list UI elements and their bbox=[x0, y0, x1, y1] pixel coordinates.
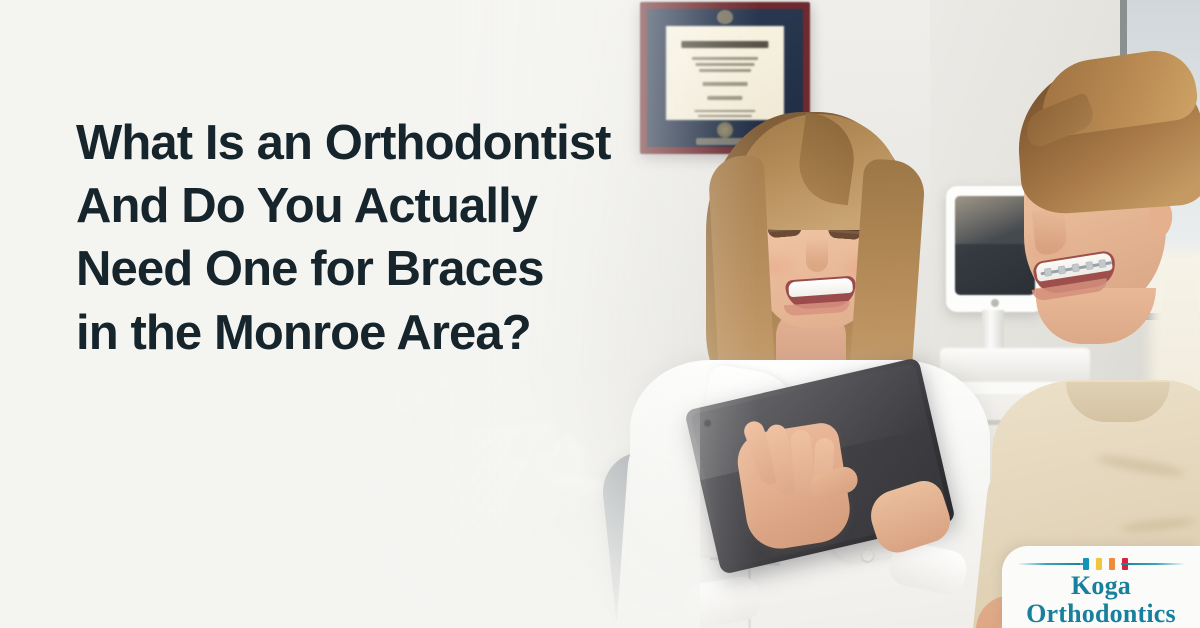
braces-bracket bbox=[1072, 263, 1080, 272]
orthodontist-nose bbox=[806, 238, 828, 272]
lab-coat-button bbox=[862, 550, 873, 561]
braces-bracket bbox=[1044, 268, 1052, 277]
braces-bracket bbox=[1085, 261, 1093, 270]
dental-delivery-unit bbox=[405, 418, 635, 568]
braces-divider-icon bbox=[1017, 558, 1185, 570]
bracket-icon-orange bbox=[1109, 558, 1115, 570]
monitor-home-button bbox=[991, 299, 999, 307]
brand-logo-badge[interactable]: Koga Orthodontics YOUR SMILE. OUR PASSIO… bbox=[1002, 546, 1200, 628]
brand-name: Koga Orthodontics bbox=[1002, 572, 1200, 628]
headline-line-1: What Is an Orthodontist bbox=[76, 112, 696, 175]
unit-tray bbox=[405, 544, 545, 578]
headline-line-3: Need One for Braces bbox=[76, 238, 696, 301]
page-title: What Is an Orthodontist And Do You Actua… bbox=[76, 112, 696, 365]
bracket-icon-teal bbox=[1083, 558, 1089, 570]
divider-line-right bbox=[1121, 563, 1185, 565]
headline-line-4: in the Monroe Area? bbox=[76, 302, 696, 365]
patient-figure bbox=[1000, 50, 1200, 628]
diploma-crest-icon bbox=[717, 10, 733, 24]
bracket-icon-yellow bbox=[1096, 558, 1102, 570]
braces-bracket bbox=[1058, 266, 1066, 275]
orthodontist-teeth bbox=[788, 278, 853, 297]
divider-line-left bbox=[1017, 563, 1081, 565]
braces-bracket bbox=[1098, 259, 1106, 268]
diploma-title-text bbox=[681, 41, 768, 48]
blog-hero-banner: What Is an Orthodontist And Do You Actua… bbox=[0, 0, 1200, 628]
headline-line-2: And Do You Actually bbox=[76, 175, 696, 238]
